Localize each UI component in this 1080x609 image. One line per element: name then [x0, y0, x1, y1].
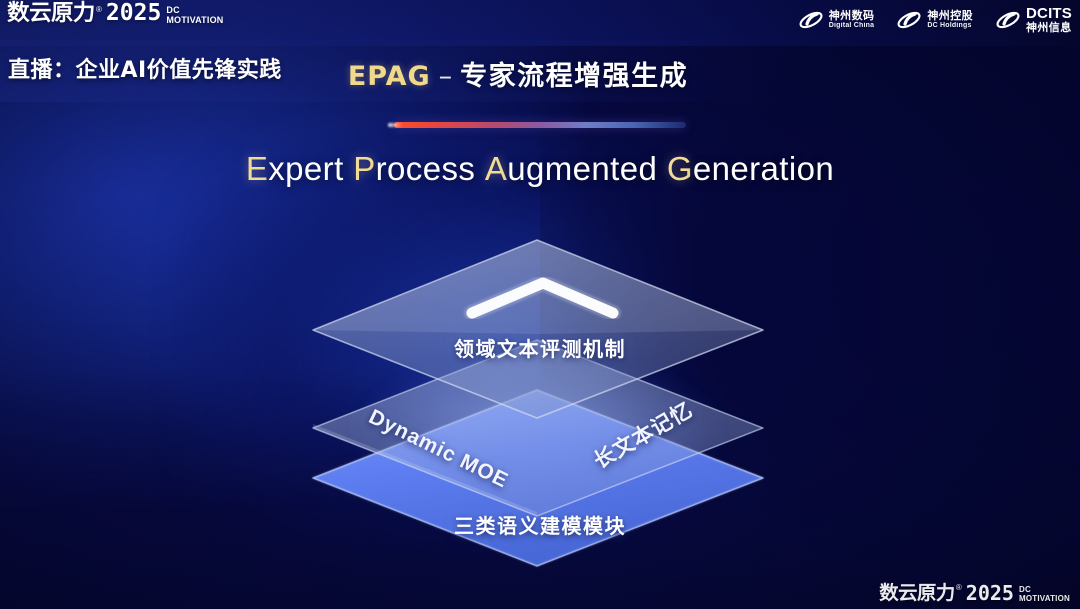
brand-logo-registered-mark: ® — [96, 3, 102, 17]
subtitle-rest-augmented: ugmented — [507, 150, 657, 187]
partner-name-en: DCITS — [1026, 6, 1072, 22]
brand-logo-tagline-line2: MOTIVATION — [166, 16, 223, 25]
subtitle-rest-generation: eneration — [693, 150, 834, 187]
page-title-acronym: EPAG — [348, 61, 431, 92]
page-title: EPAG–专家流程增强生成 — [0, 54, 1058, 93]
subtitle-cap-g: G — [667, 150, 693, 187]
watermark-year: 2025 — [966, 583, 1014, 603]
watermark-registered-mark: ® — [956, 581, 962, 595]
subtitle-cap-a: A — [485, 150, 507, 187]
brand-logo-year: 2025 — [106, 2, 161, 25]
brand-logo: 数云原力 ® 2025 DC MOTIVATION — [8, 2, 223, 25]
partner-logo-digital-china: 神州数码 Digital China — [798, 7, 875, 33]
stack-layer-1-label: 领域文本评测机制 — [0, 333, 1080, 362]
watermark-tagline-line2: MOTIVATION — [1019, 595, 1070, 603]
page-title-chinese: 专家流程增强生成 — [460, 61, 688, 92]
page-subtitle: Expert Process Augmented Generation — [0, 150, 1080, 188]
subtitle-cap-e: E — [246, 150, 268, 187]
swirl-logo-icon — [798, 7, 824, 33]
brand-logo-tagline: DC MOTIVATION — [166, 6, 223, 25]
stack-layer-3-label: 三类语义建模模块 — [0, 510, 1080, 539]
partner-logo-text: 神州控股 DC Holdings — [927, 10, 973, 29]
watermark-chinese: 数云原力 — [879, 584, 954, 603]
partner-name-cn: 神州信息 — [1026, 22, 1072, 34]
partner-logo-dcits: DCITS 神州信息 — [995, 6, 1072, 33]
swirl-logo-icon — [995, 7, 1021, 33]
title-divider-bar — [394, 122, 686, 128]
subtitle-rest-process: rocess — [376, 150, 476, 187]
subtitle-rest-expert: xpert — [268, 150, 343, 187]
partner-logo-text: DCITS 神州信息 — [1026, 6, 1072, 33]
partner-name-en: DC Holdings — [927, 22, 973, 29]
partner-logo-text: 神州数码 Digital China — [829, 10, 875, 29]
subtitle-cap-p: P — [353, 150, 375, 187]
page-title-separator: – — [439, 61, 453, 92]
partner-name-cn: 神州控股 — [927, 10, 973, 22]
brand-logo-tagline-line1: DC — [166, 6, 223, 15]
footer-watermark-logo: 数云原力 ® 2025 DC MOTIVATION — [880, 581, 1070, 603]
partner-name-cn: 神州数码 — [829, 10, 875, 22]
slide-canvas: 数云原力 ® 2025 DC MOTIVATION 直播：企业AI价值先锋实践 … — [0, 0, 1080, 609]
partner-logo-group: 神州数码 Digital China 神州控股 DC Holdings — [798, 6, 1072, 33]
swirl-logo-icon — [896, 7, 922, 33]
brand-logo-chinese: 数云原力 — [7, 3, 95, 25]
watermark-tagline-line1: DC — [1019, 586, 1070, 594]
partner-logo-dc-holdings: 神州控股 DC Holdings — [896, 7, 973, 33]
partner-name-en: Digital China — [829, 22, 875, 29]
watermark-tagline: DC MOTIVATION — [1019, 586, 1070, 603]
